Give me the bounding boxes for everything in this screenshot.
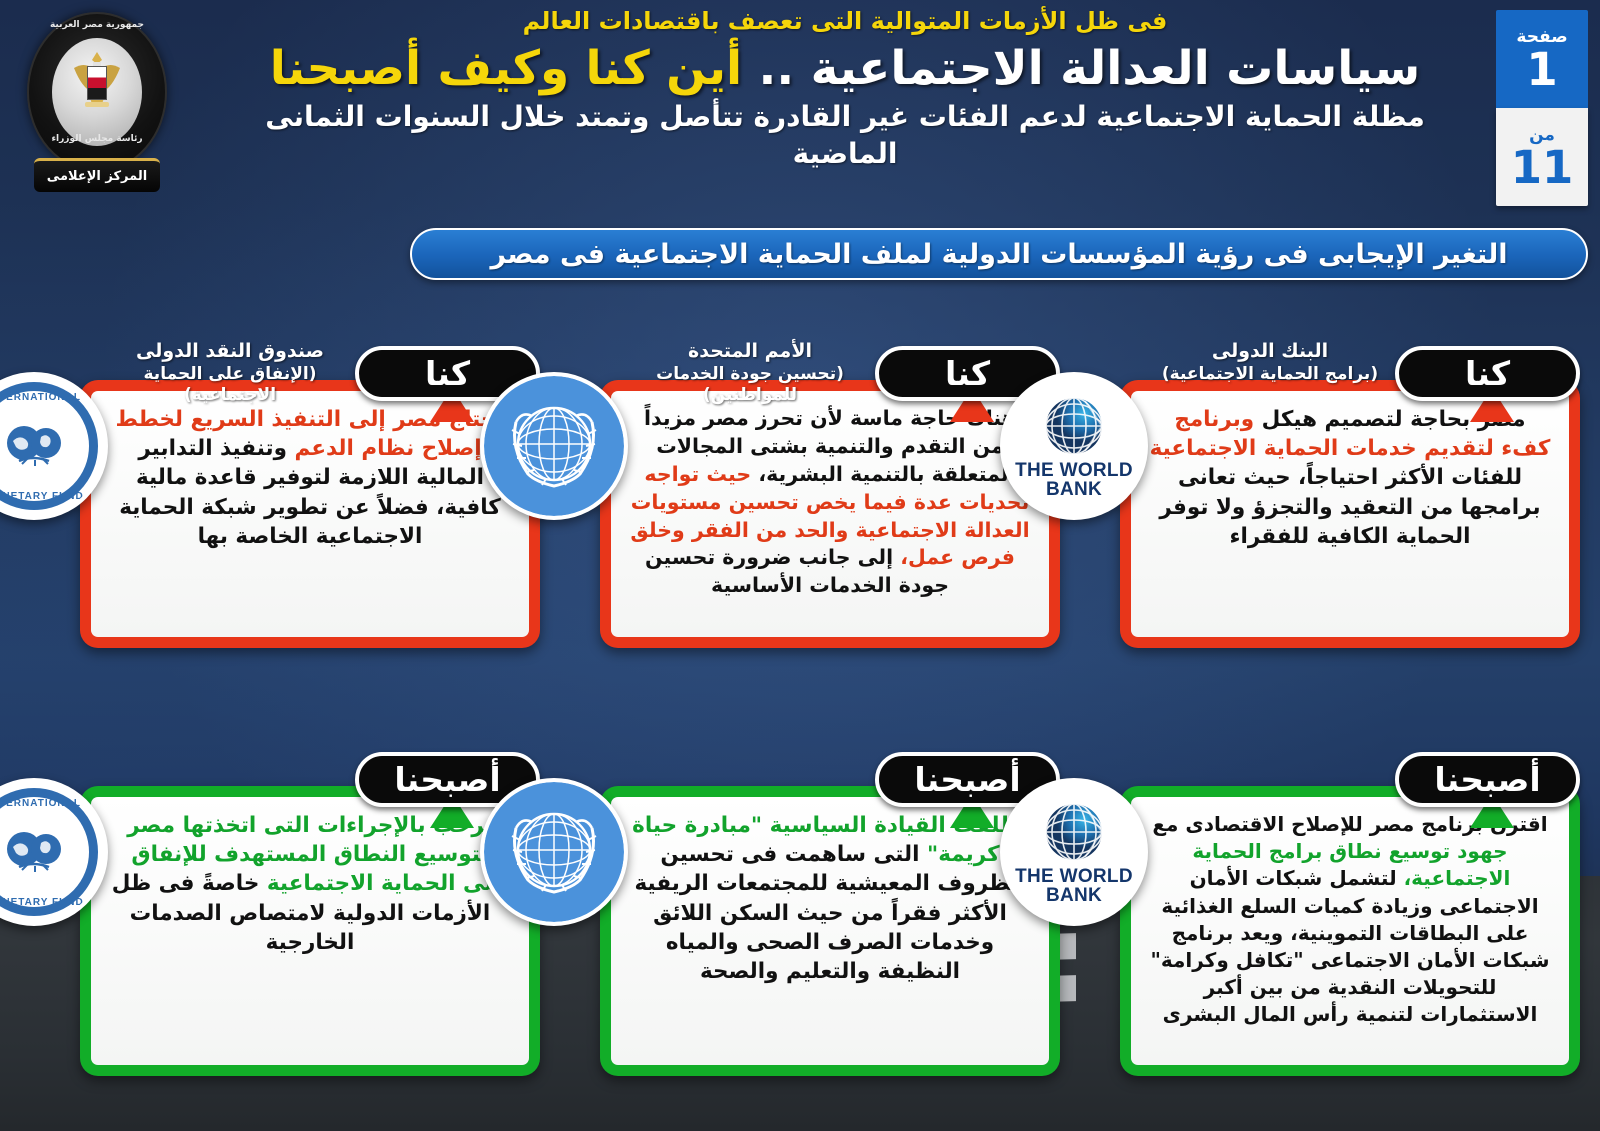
status-badge-text: أصبحنا xyxy=(914,760,1020,799)
united-nations-logo xyxy=(480,778,628,926)
statement-sheet: مصر بحاجة لتصميم هيكل وبرنامج كفء لتقديم… xyxy=(1131,391,1569,637)
statement-bubble: أطلقت القيادة السياسية "مبادرة حياة كريم… xyxy=(600,786,1060,1076)
imf-logo-text-bottom: MONETARY FUND xyxy=(0,491,104,502)
world-bank-globe-icon xyxy=(1041,799,1107,865)
header-text-block: فى ظل الأزمات المتوالية التى تعصف باقتصا… xyxy=(240,6,1450,172)
imf-logo-text-top: INTERNATIONAL xyxy=(0,392,104,403)
logo-arc-bottom-text: رئاسة مجلس الوزراء xyxy=(27,134,167,144)
world-bank-logo: THE WORLD BANK xyxy=(1000,372,1148,520)
world-bank-logo: THE WORLD BANK xyxy=(1000,778,1148,926)
statement-text: اقترن برنامج مصر للإصلاح الاقتصادى مع جه… xyxy=(1147,811,1553,1029)
org-name: صندوق النقد الدولى xyxy=(105,340,355,364)
statement-bubble: اقترن برنامج مصر للإصلاح الاقتصادى مع جه… xyxy=(1120,786,1580,1076)
page-counter-total: من 11 xyxy=(1496,108,1588,206)
page-counter-total-number: 11 xyxy=(1511,145,1574,190)
statement-text: هناك حاجة ماسة لأن تحرز مصر مزيداً من ال… xyxy=(627,405,1033,600)
world-bank-logo-line1: THE WORLD xyxy=(1015,461,1133,480)
world-bank-logo-text: THE WORLD BANK xyxy=(1015,461,1133,500)
status-badge-text: كنا xyxy=(945,354,990,393)
section-banner: التغير الإيجابى فى رؤية المؤسسات الدولية… xyxy=(410,228,1588,280)
imf-emblem-icon: INTERNATIONAL MONETARY FUND xyxy=(0,376,104,516)
imf-logo: INTERNATIONAL MONETARY FUND xyxy=(0,778,108,926)
statement-text: تحتاج مصر إلى التنفيذ السريع لخطط إصلاح … xyxy=(107,405,513,551)
statement-text: نرحب بالإجراءات التى اتخذتها مصر لتوسيع … xyxy=(107,811,513,957)
org-subject: (برامج الحماية الاجتماعية) xyxy=(1145,364,1395,385)
imf-logo-text-top: INTERNATIONAL xyxy=(0,798,104,809)
org-subject: (تحسين جودة الخدمات للمواطنين) xyxy=(625,364,875,407)
world-bank-logo-line2: BANK xyxy=(1015,480,1133,499)
egypt-government-logo: جمهورية مصر العربية رئاسة مجلس الوزراء ا… xyxy=(18,8,176,206)
section-banner-text: التغير الإيجابى فى رؤية المؤسسات الدولية… xyxy=(491,239,1508,270)
statement-text: أطلقت القيادة السياسية "مبادرة حياة كريم… xyxy=(627,811,1033,986)
status-badge-text: كنا xyxy=(425,354,470,393)
org-caption-un-before: الأمم المتحدة (تحسين جودة الخدمات للمواط… xyxy=(625,340,875,406)
egypt-flag-shield xyxy=(87,66,107,100)
status-badge-text: أصبحنا xyxy=(394,760,500,799)
statement-bubble: نرحب بالإجراءات التى اتخذتها مصر لتوسيع … xyxy=(80,786,540,1076)
header-subtitle: مظلة الحماية الاجتماعية لدعم الفئات غير … xyxy=(240,99,1450,172)
statement-sheet: هناك حاجة ماسة لأن تحرز مصر مزيداً من ال… xyxy=(611,391,1049,637)
cards-grid: البنك الدولى (برامج الحماية الاجتماعية) … xyxy=(0,300,1600,1120)
united-nations-logo xyxy=(480,372,628,520)
page-title: سياسات العدالة الاجتماعية .. أين كنا وكي… xyxy=(240,40,1450,97)
header-kicker: فى ظل الأزمات المتوالية التى تعصف باقتصا… xyxy=(240,6,1450,36)
page-title-part-2: أين كنا وكيف أصبحنا xyxy=(270,41,742,96)
org-name: الأمم المتحدة xyxy=(625,340,875,364)
status-badge-before: كنا xyxy=(1395,346,1580,401)
imf-emblem-icon: INTERNATIONAL MONETARY FUND xyxy=(0,782,104,922)
status-badge-text: أصبحنا xyxy=(1434,760,1540,799)
statement-segment-plain-2: للفئات الأكثر احتياجاً، حيث تعانى برامجه… xyxy=(1159,465,1540,548)
status-badge-after: أصبحنا xyxy=(1395,752,1580,807)
logo-nameplate-text: المركز الإعلامى xyxy=(47,169,147,184)
statement-text: مصر بحاجة لتصميم هيكل وبرنامج كفء لتقديم… xyxy=(1147,405,1553,551)
page-counter: صفحة 1 من 11 xyxy=(1496,10,1588,206)
imf-logo-text-bottom: MONETARY FUND xyxy=(0,897,104,908)
un-emblem-icon xyxy=(484,376,624,516)
imf-logo: INTERNATIONAL MONETARY FUND xyxy=(0,372,108,520)
statement-sheet: أطلقت القيادة السياسية "مبادرة حياة كريم… xyxy=(611,797,1049,1065)
header: جمهورية مصر العربية رئاسة مجلس الوزراء ا… xyxy=(0,0,1600,216)
statement-sheet: تحتاج مصر إلى التنفيذ السريع لخطط إصلاح … xyxy=(91,391,529,637)
world-bank-logo-line2: BANK xyxy=(1015,886,1133,905)
world-bank-logo-line1: THE WORLD xyxy=(1015,867,1133,886)
org-caption-imf-before: صندوق النقد الدولى (الإنفاق على الحماية … xyxy=(105,340,355,406)
org-name: البنك الدولى xyxy=(1145,340,1395,364)
org-subject: (الإنفاق على الحماية الاجتماعية) xyxy=(105,364,355,407)
statement-sheet: اقترن برنامج مصر للإصلاح الاقتصادى مع جه… xyxy=(1131,797,1569,1065)
page-title-part-1: سياسات العدالة الاجتماعية .. xyxy=(759,41,1421,96)
org-caption-world-bank-before: البنك الدولى (برامج الحماية الاجتماعية) xyxy=(1145,340,1395,385)
world-bank-logo-text: THE WORLD BANK xyxy=(1015,867,1133,906)
page-counter-current: صفحة 1 xyxy=(1496,10,1588,108)
logo-arc-top-text: جمهورية مصر العربية xyxy=(27,20,167,30)
page-counter-number: 1 xyxy=(1526,47,1557,92)
logo-nameplate: المركز الإعلامى xyxy=(34,158,160,192)
un-emblem-icon xyxy=(484,782,624,922)
statement-sheet: نرحب بالإجراءات التى اتخذتها مصر لتوسيع … xyxy=(91,797,529,1065)
status-badge-text: كنا xyxy=(1465,354,1510,393)
infographic-page: جمهورية مصر العربية رئاسة مجلس الوزراء ا… xyxy=(0,0,1600,1131)
world-bank-globe-icon xyxy=(1041,393,1107,459)
